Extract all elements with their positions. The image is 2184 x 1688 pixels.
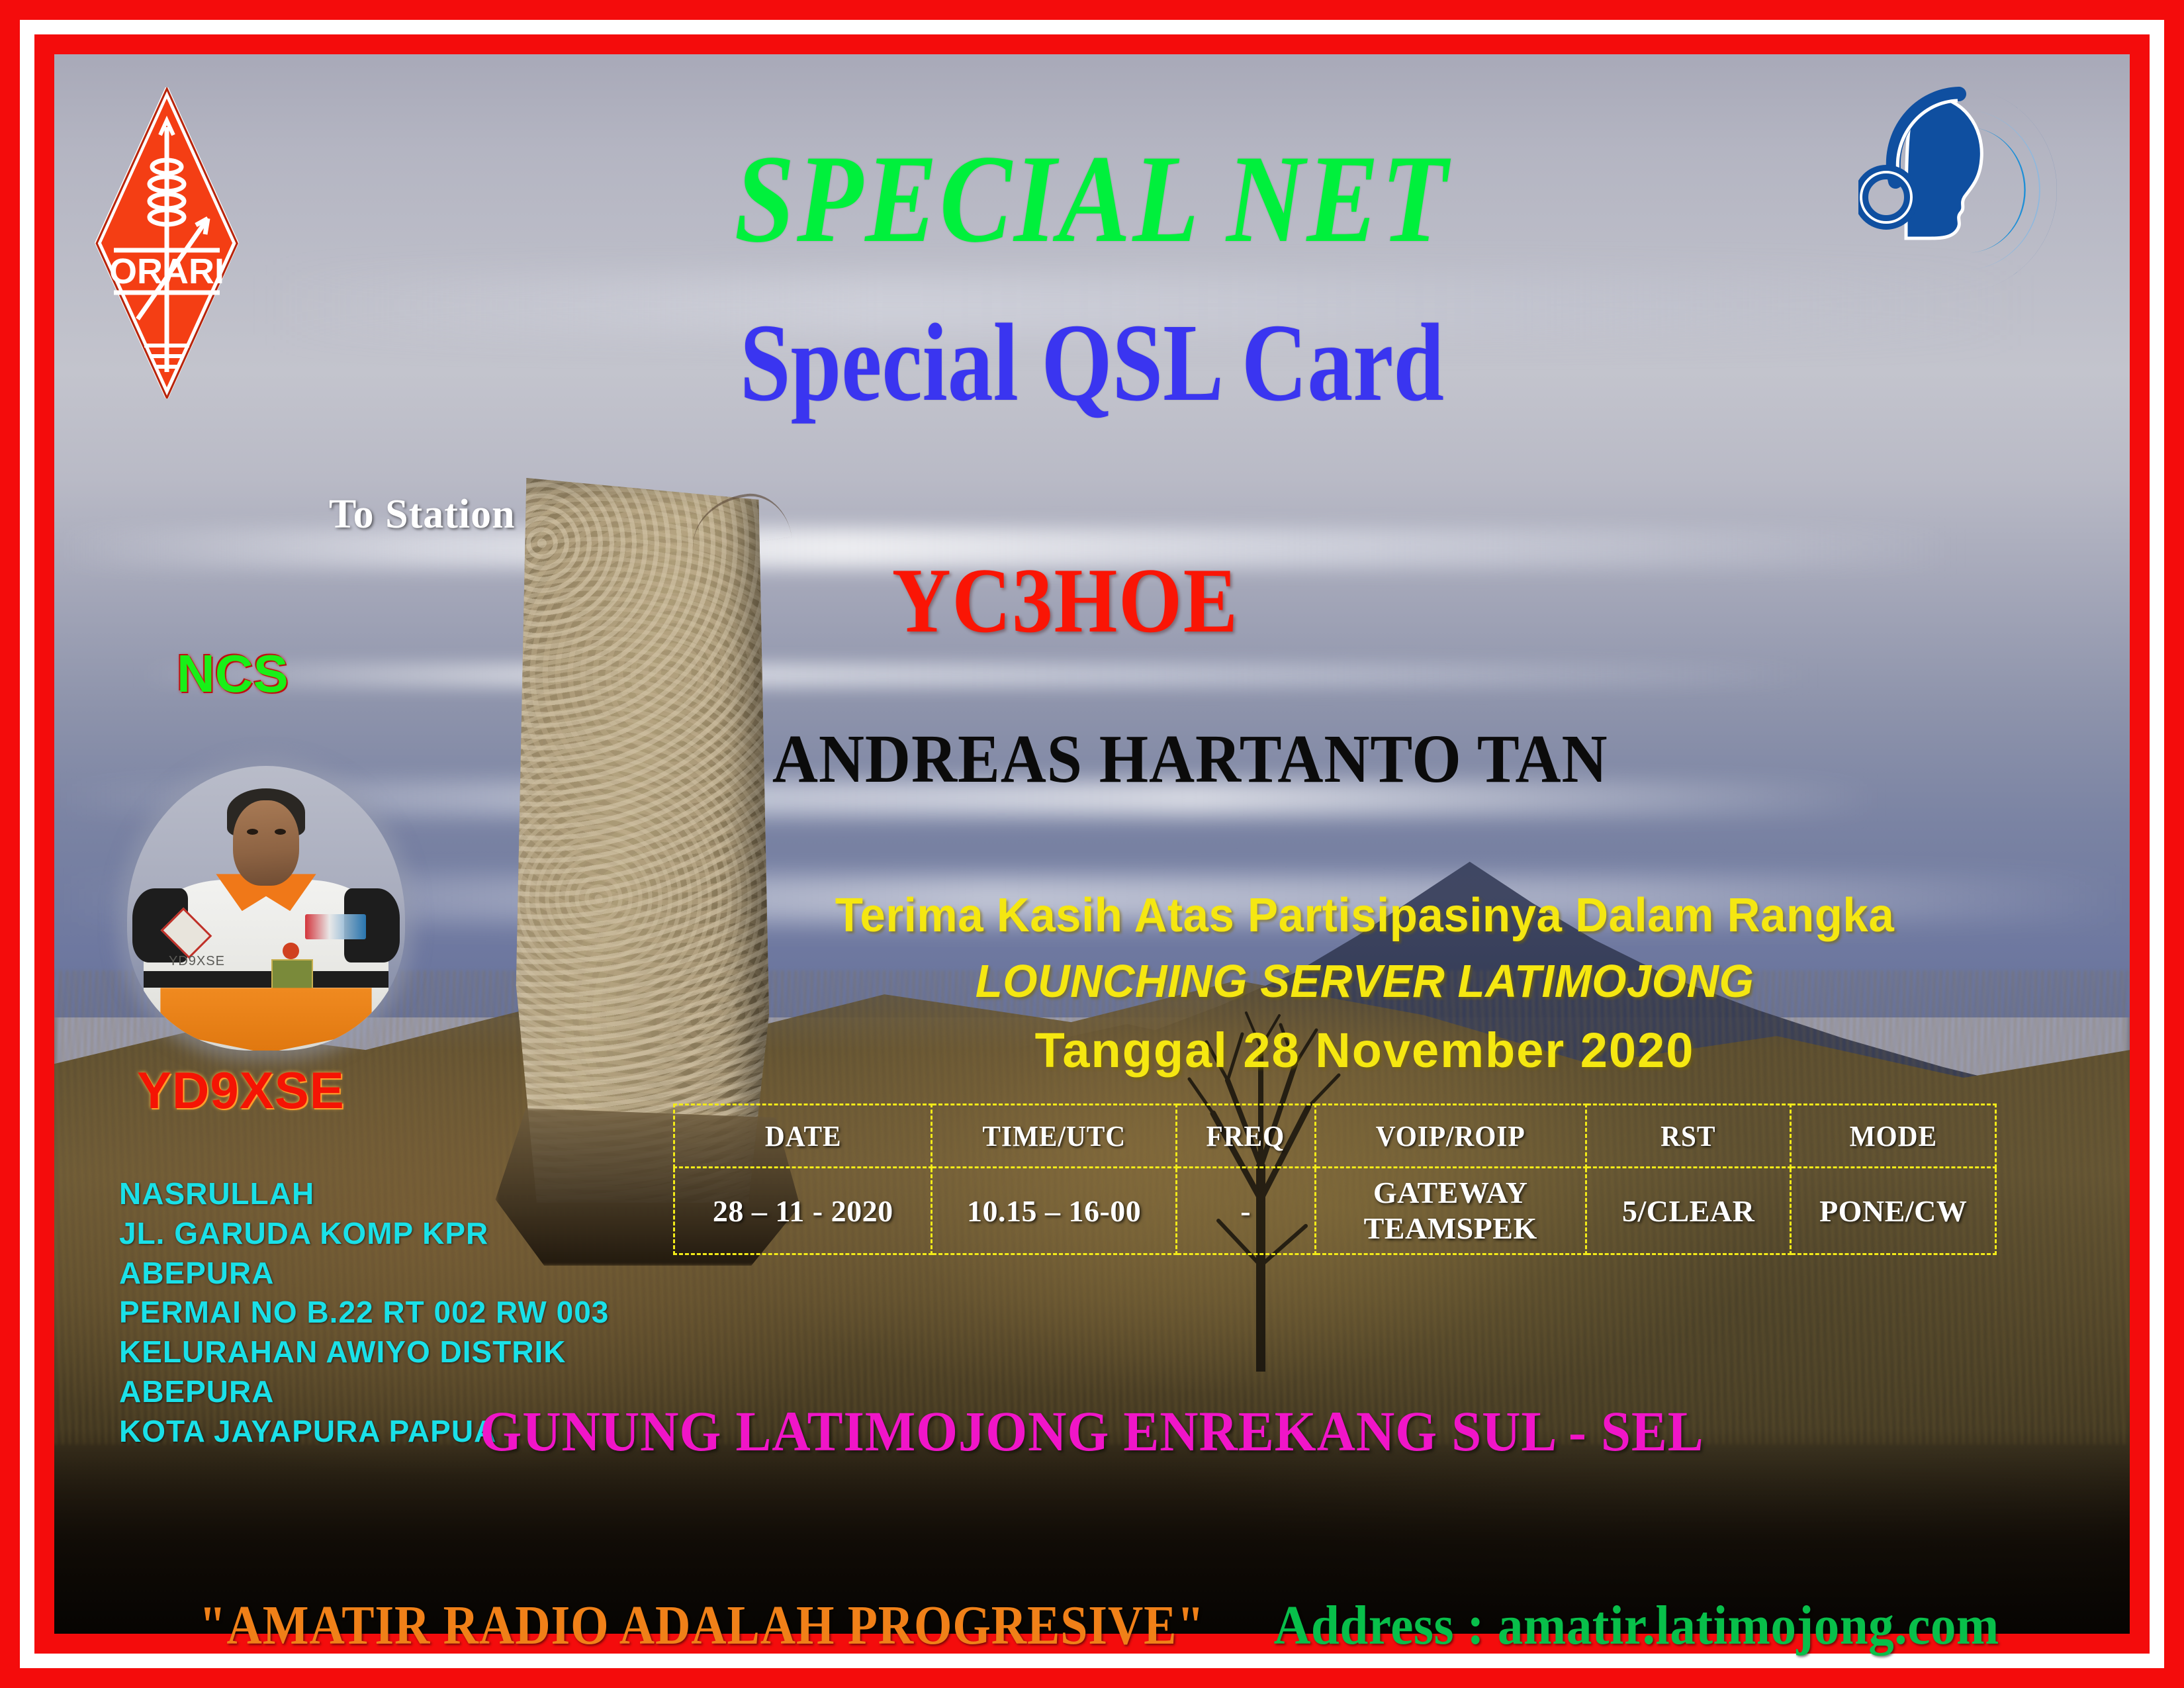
thanks-line-1: Terima Kasih Atas Partisipasinya Dalam R… [749, 888, 1981, 943]
ncs-label: NCS [177, 643, 289, 704]
column-header-date: DATE [682, 1105, 924, 1168]
ncs-operator-photo: YD9XSE [127, 766, 405, 1051]
cell-voip-line-2: TEAMSPEK [1316, 1211, 1585, 1246]
qsl-card: ORARI SPECIAL NET S [0, 0, 2184, 1688]
cell-mode: PONE/CW [1791, 1168, 1996, 1254]
address-line: ABEPURA [119, 1254, 609, 1293]
thanks-line-2-event: LOUNCHING SERVER LATIMOJONG [749, 955, 1981, 1008]
photo-name-tag: YD9XSE [169, 954, 225, 969]
photo-eye-right [275, 829, 287, 835]
title-special-net: SPECIAL NET [200, 127, 1985, 271]
column-header-time: TIME/UTC [939, 1105, 1169, 1168]
card-content-layer: ORARI SPECIAL NET S [54, 54, 2130, 1634]
recipient-operator-name: ANDREAS HARTANTO TAN [772, 720, 1608, 798]
address-line: NASRULLAH [119, 1174, 609, 1214]
footer-web-address: Address : amatir.latimojong.com [1274, 1593, 1999, 1658]
cell-voip: GATEWAY TEAMSPEK [1315, 1168, 1586, 1254]
ncs-callsign: YD9XSE [137, 1060, 345, 1121]
photo-face [233, 800, 300, 886]
thanks-line-3-date: Tanggal 28 November 2020 [723, 1022, 2007, 1078]
footer-motto: "AMATIR RADIO ADALAH PROGRESIVE" [199, 1593, 1205, 1658]
table-row: 28 – 11 - 2020 10.15 – 16-00 - GATEWAY T… [674, 1168, 1996, 1254]
cell-voip-line-1: GATEWAY [1316, 1175, 1585, 1211]
column-header-freq: FREQ [1181, 1105, 1311, 1168]
address-line: JL. GARUDA KOMP KPR [119, 1214, 609, 1254]
photo-uniform-stripe [144, 971, 388, 988]
recipient-callsign: YC3HOE [892, 547, 1239, 654]
address-line: PERMAI NO B.22 RT 002 RW 003 [119, 1293, 609, 1333]
address-line: KELURAHAN AWIYO DISTRIK [119, 1333, 609, 1372]
to-station-label: To Station [329, 491, 516, 538]
cell-date: 28 – 11 - 2020 [674, 1168, 932, 1254]
column-header-rst: RST [1592, 1105, 1785, 1168]
photo-eye-left [247, 829, 259, 835]
location-line: GUNUNG LATIMOJONG ENREKANG SUL - SEL [116, 1398, 2068, 1464]
qso-log-table: DATE TIME/UTC FREQ VOIP/ROIP RST MODE 28… [673, 1103, 1997, 1255]
title-special-qsl-card: Special QSL Card [241, 299, 1943, 427]
cell-rst: 5/CLEAR [1586, 1168, 1791, 1254]
column-header-mode: MODE [1797, 1105, 1989, 1168]
table-header-row: DATE TIME/UTC FREQ VOIP/ROIP RST MODE [674, 1105, 1996, 1168]
column-header-voip: VOIP/ROIP [1323, 1105, 1578, 1168]
cell-time: 10.15 – 16-00 [932, 1168, 1176, 1254]
photo-uniform-emblem [305, 914, 366, 940]
thanks-block: Terima Kasih Atas Partisipasinya Dalam R… [723, 888, 2007, 1078]
cell-freq: - [1176, 1168, 1315, 1254]
